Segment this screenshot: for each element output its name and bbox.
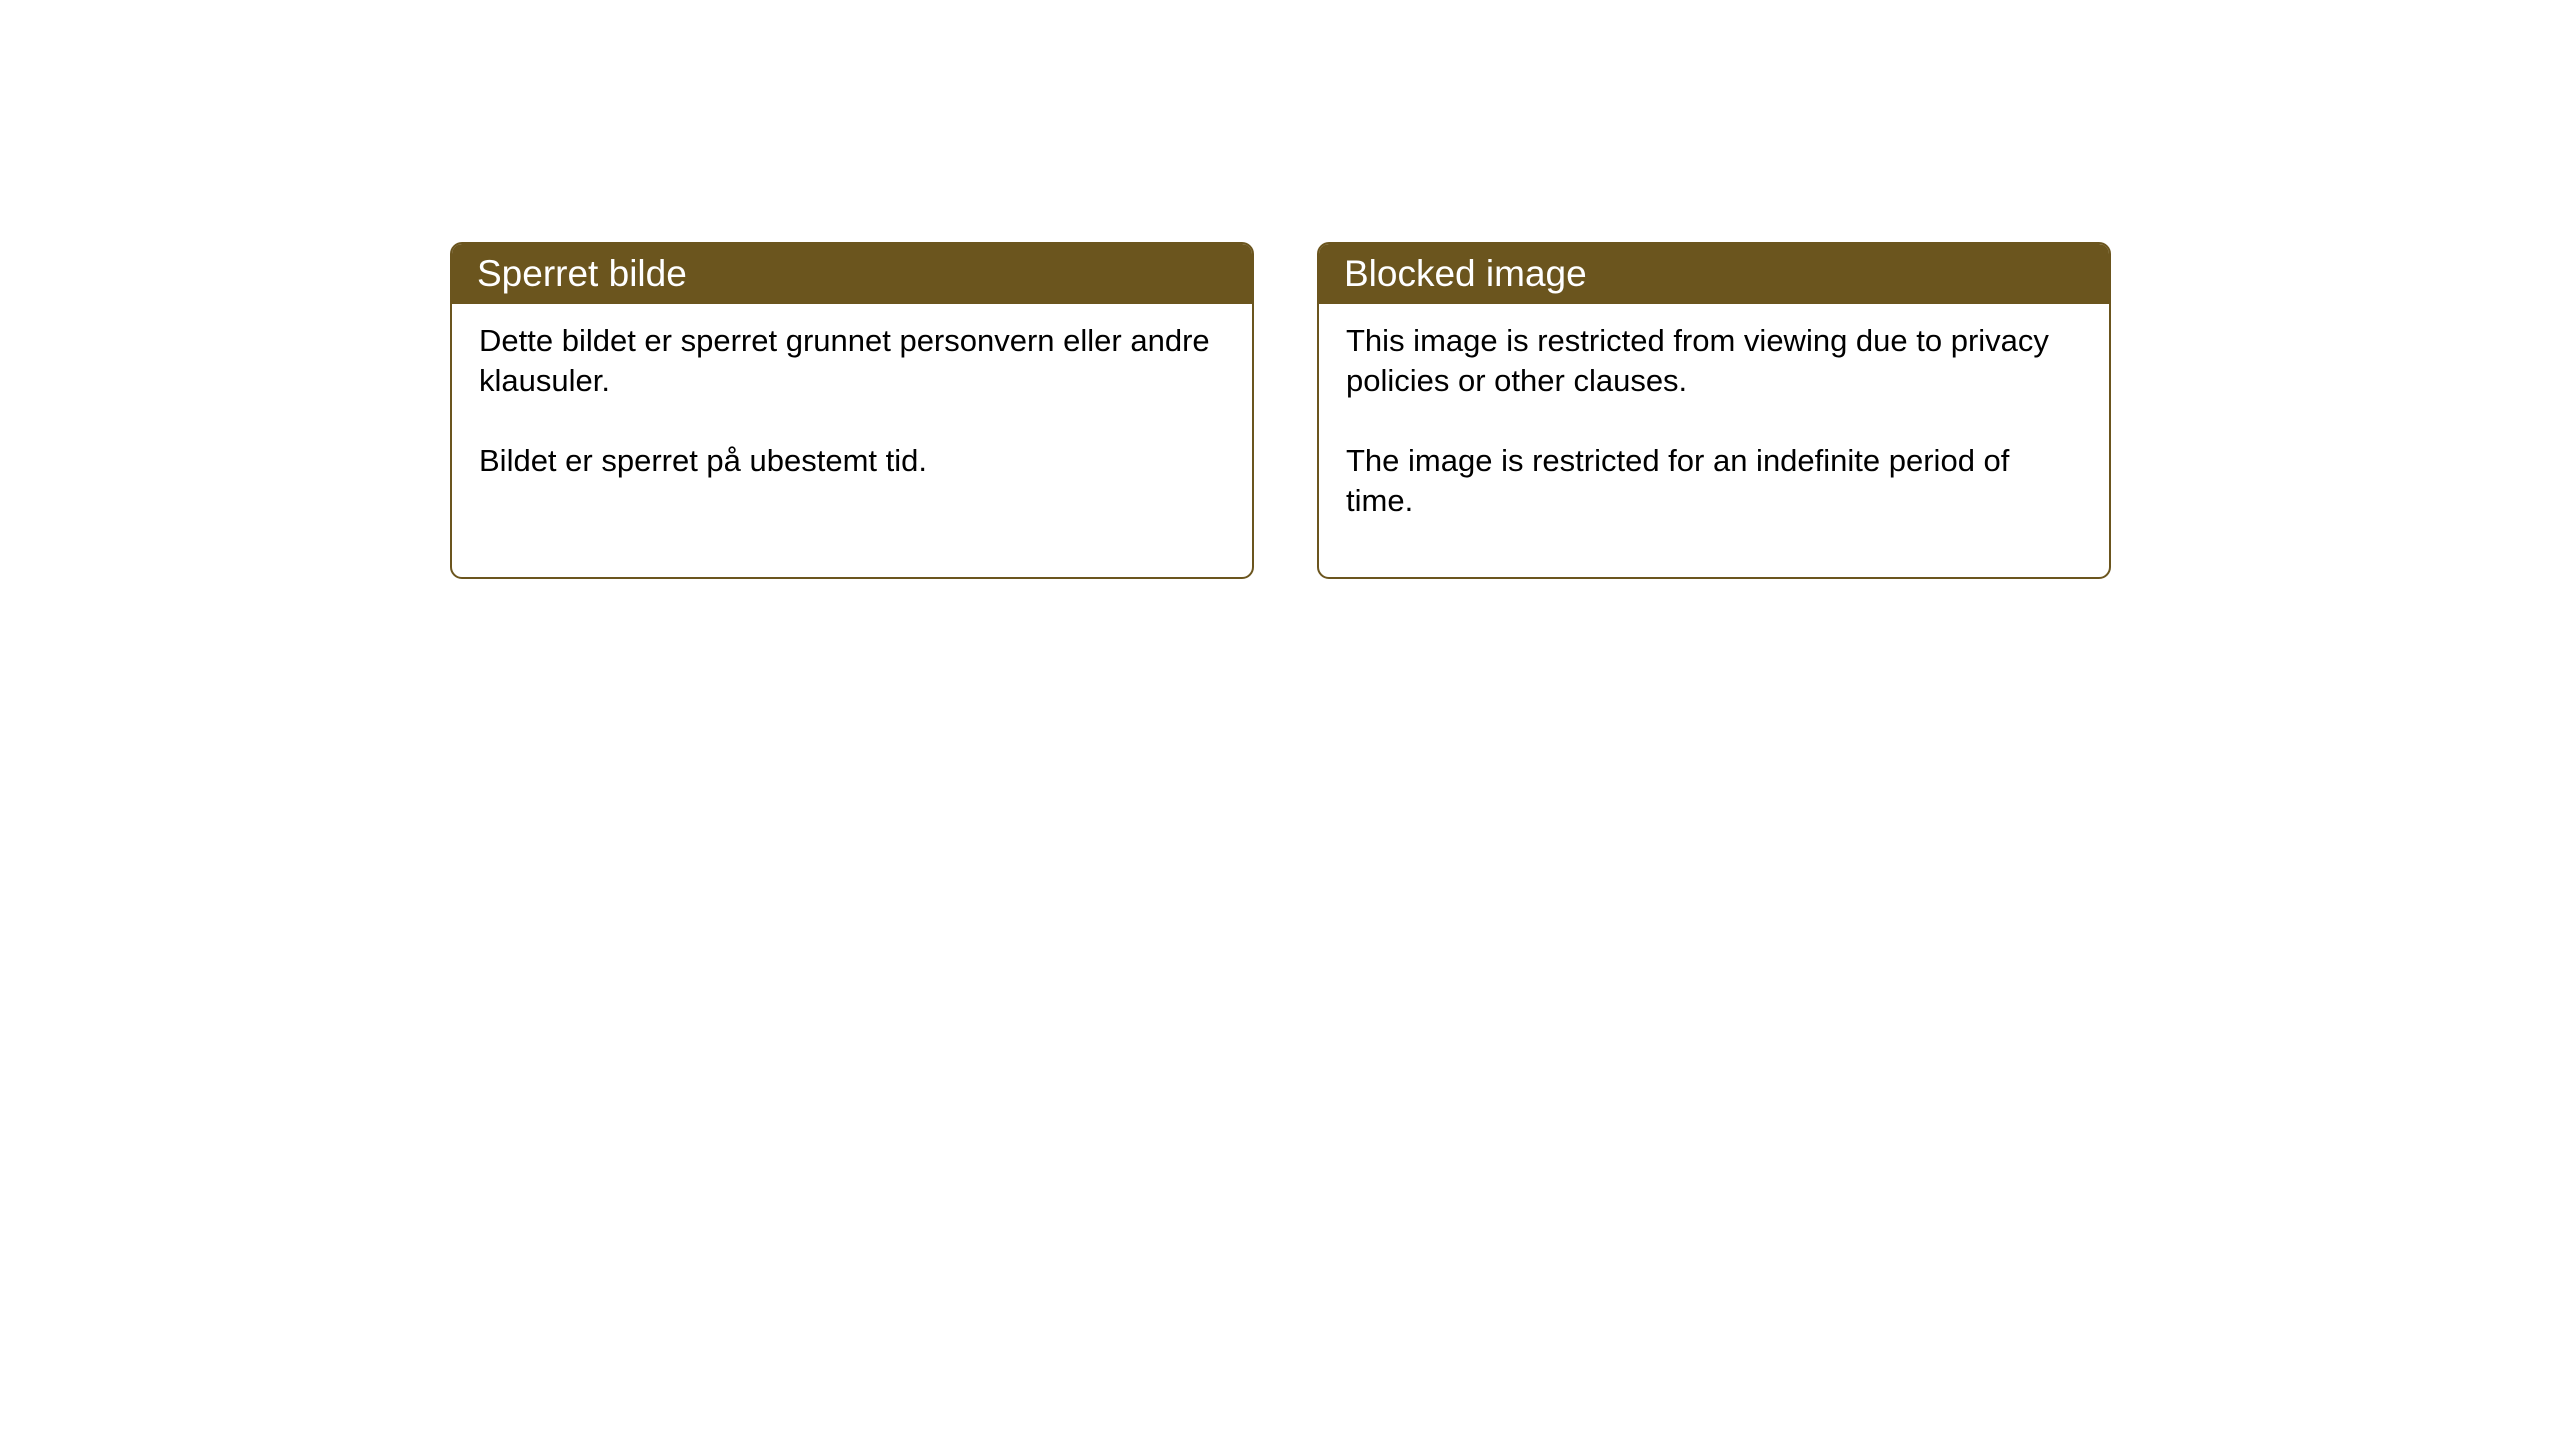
card-header-norwegian: Sperret bilde	[450, 242, 1254, 304]
paragraph-spacer	[479, 401, 1228, 441]
card-title-english: Blocked image	[1344, 255, 1587, 292]
card-paragraph-primary-norwegian: Dette bildet er sperret grunnet personve…	[479, 321, 1228, 401]
card-header-english: Blocked image	[1317, 242, 2111, 304]
page-canvas: Sperret bilde Dette bildet er sperret gr…	[0, 0, 2560, 1440]
card-paragraph-secondary-english: The image is restricted for an indefinit…	[1346, 441, 2085, 521]
card-body-norwegian: Dette bildet er sperret grunnet personve…	[452, 304, 1252, 481]
card-paragraph-secondary-norwegian: Bildet er sperret på ubestemt tid.	[479, 441, 1228, 481]
blocked-image-notice-card-norwegian: Sperret bilde Dette bildet er sperret gr…	[450, 242, 1254, 579]
card-paragraph-primary-english: This image is restricted from viewing du…	[1346, 321, 2085, 401]
card-title-norwegian: Sperret bilde	[477, 255, 687, 292]
blocked-image-notice-card-english: Blocked image This image is restricted f…	[1317, 242, 2111, 579]
paragraph-spacer	[1346, 401, 2085, 441]
card-body-english: This image is restricted from viewing du…	[1319, 304, 2109, 521]
